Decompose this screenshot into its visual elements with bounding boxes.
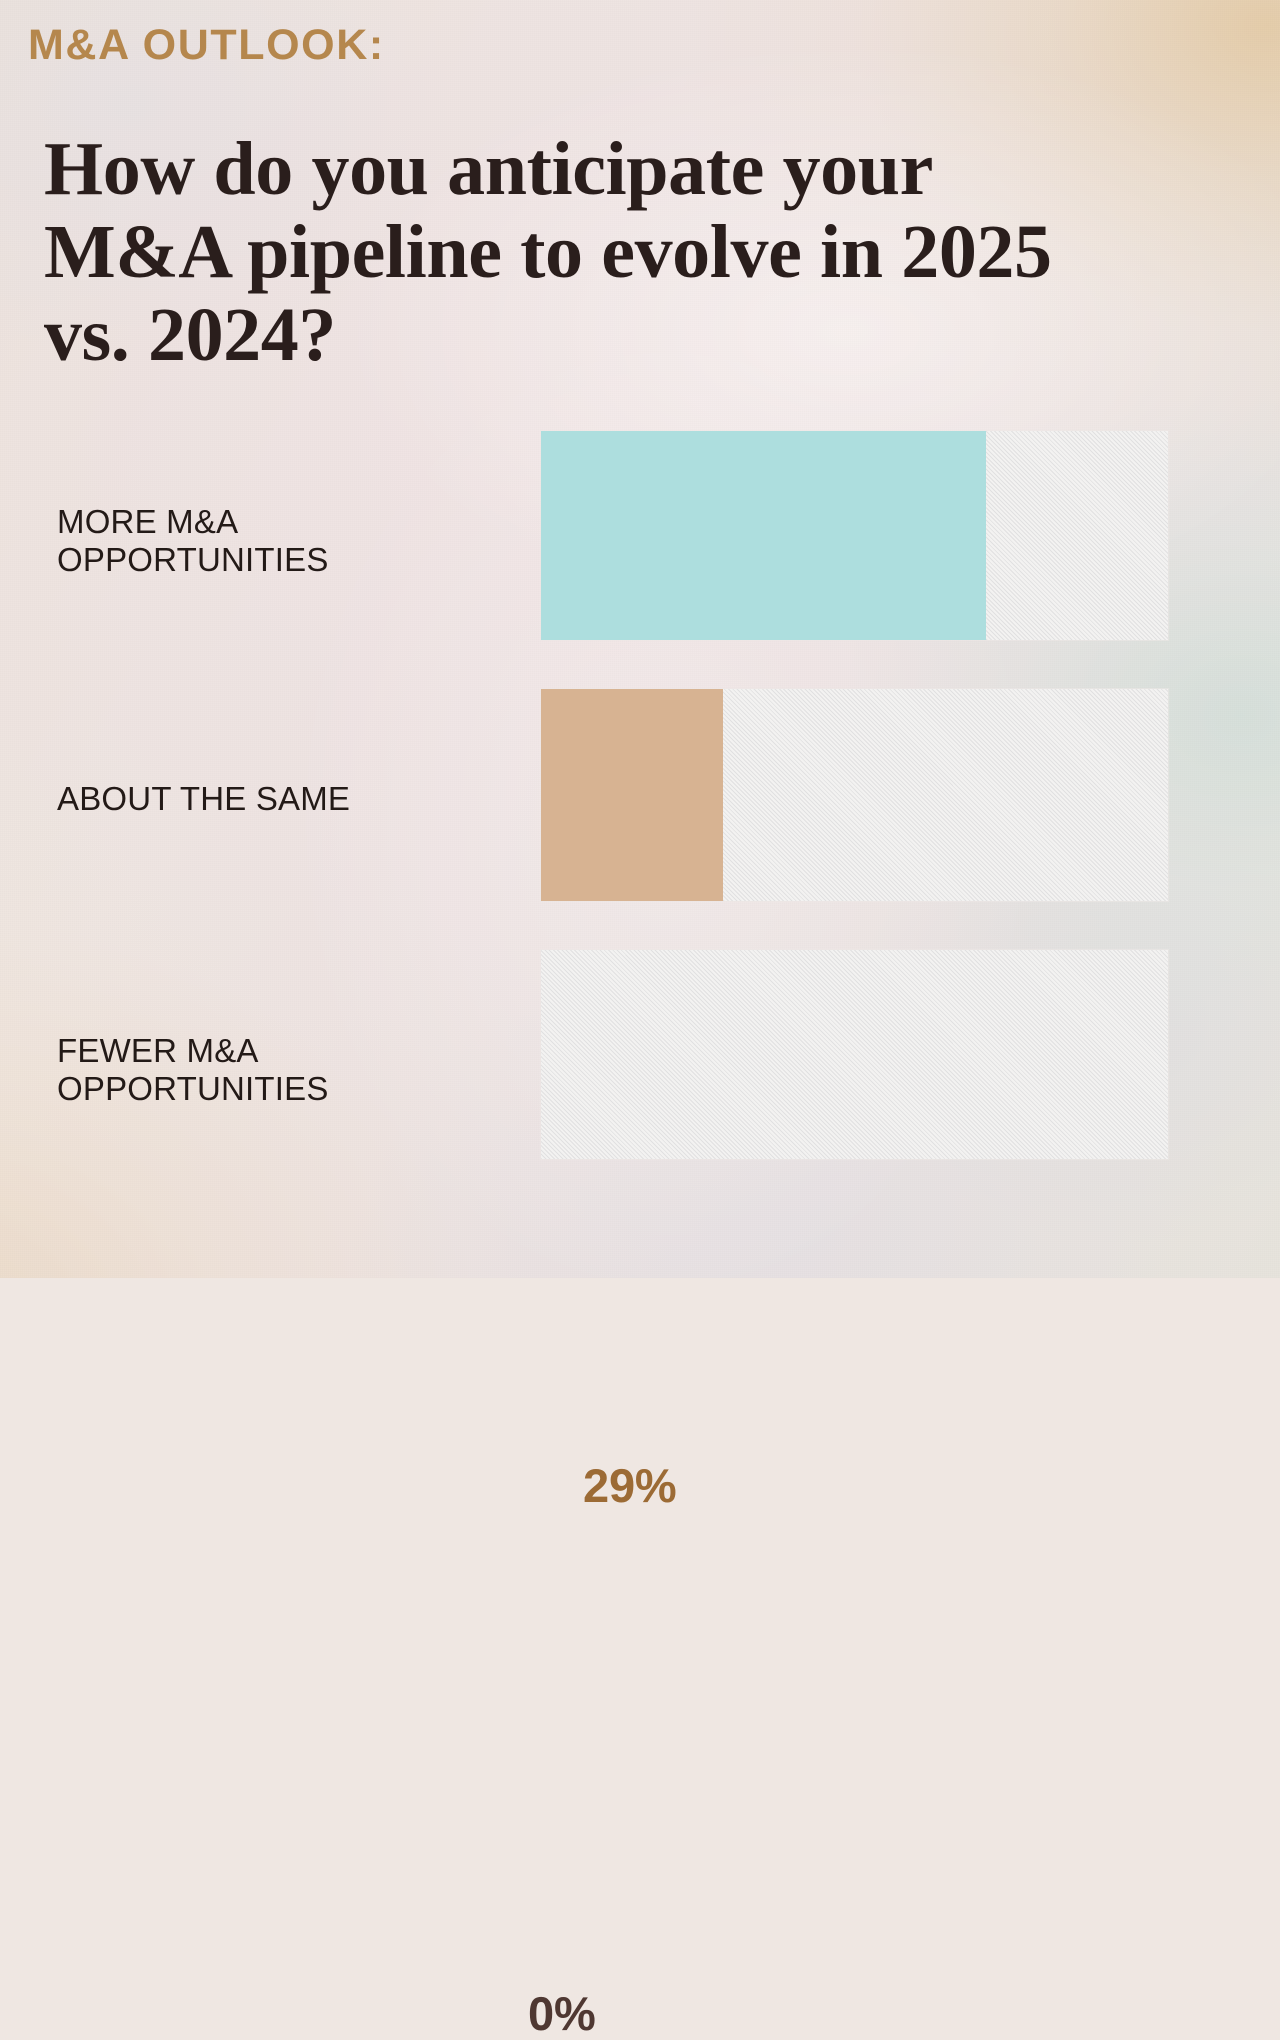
bar-category-label-line-1: FEWER M&A	[57, 1032, 517, 1070]
bar-value-label: 0%	[528, 1990, 596, 2037]
bar-value-label: 29%	[583, 1462, 676, 1509]
bar-category-label-line-1: ABOUT THE SAME	[57, 780, 517, 818]
bar-category-label-line-1: MORE M&A	[57, 503, 517, 541]
horizontal-bar-chart: MORE M&A OPPORTUNITIES 71% ABOUT THE SAM…	[0, 0, 1280, 1278]
bar-category-label-line-2: OPPORTUNITIES	[57, 1070, 517, 1108]
bar-fill	[541, 431, 986, 640]
bar-track	[541, 950, 1168, 1159]
bar-fill	[541, 689, 723, 901]
bar-category-label-line-2: OPPORTUNITIES	[57, 541, 517, 579]
bar-category-label: FEWER M&A OPPORTUNITIES	[57, 1032, 517, 1108]
bar-track	[541, 689, 1168, 901]
poster-content: M&A OUTLOOK: How do you anticipate your …	[0, 0, 1280, 1278]
bar-track	[541, 431, 1168, 640]
bar-row-fewer-opportunities: FEWER M&A OPPORTUNITIES 0%	[0, 950, 1280, 1159]
bar-category-label: ABOUT THE SAME	[57, 780, 517, 818]
bar-category-label: MORE M&A OPPORTUNITIES	[57, 503, 517, 579]
bar-row-about-the-same: ABOUT THE SAME 29%	[0, 689, 1280, 901]
bar-row-more-opportunities: MORE M&A OPPORTUNITIES 71%	[0, 431, 1280, 640]
